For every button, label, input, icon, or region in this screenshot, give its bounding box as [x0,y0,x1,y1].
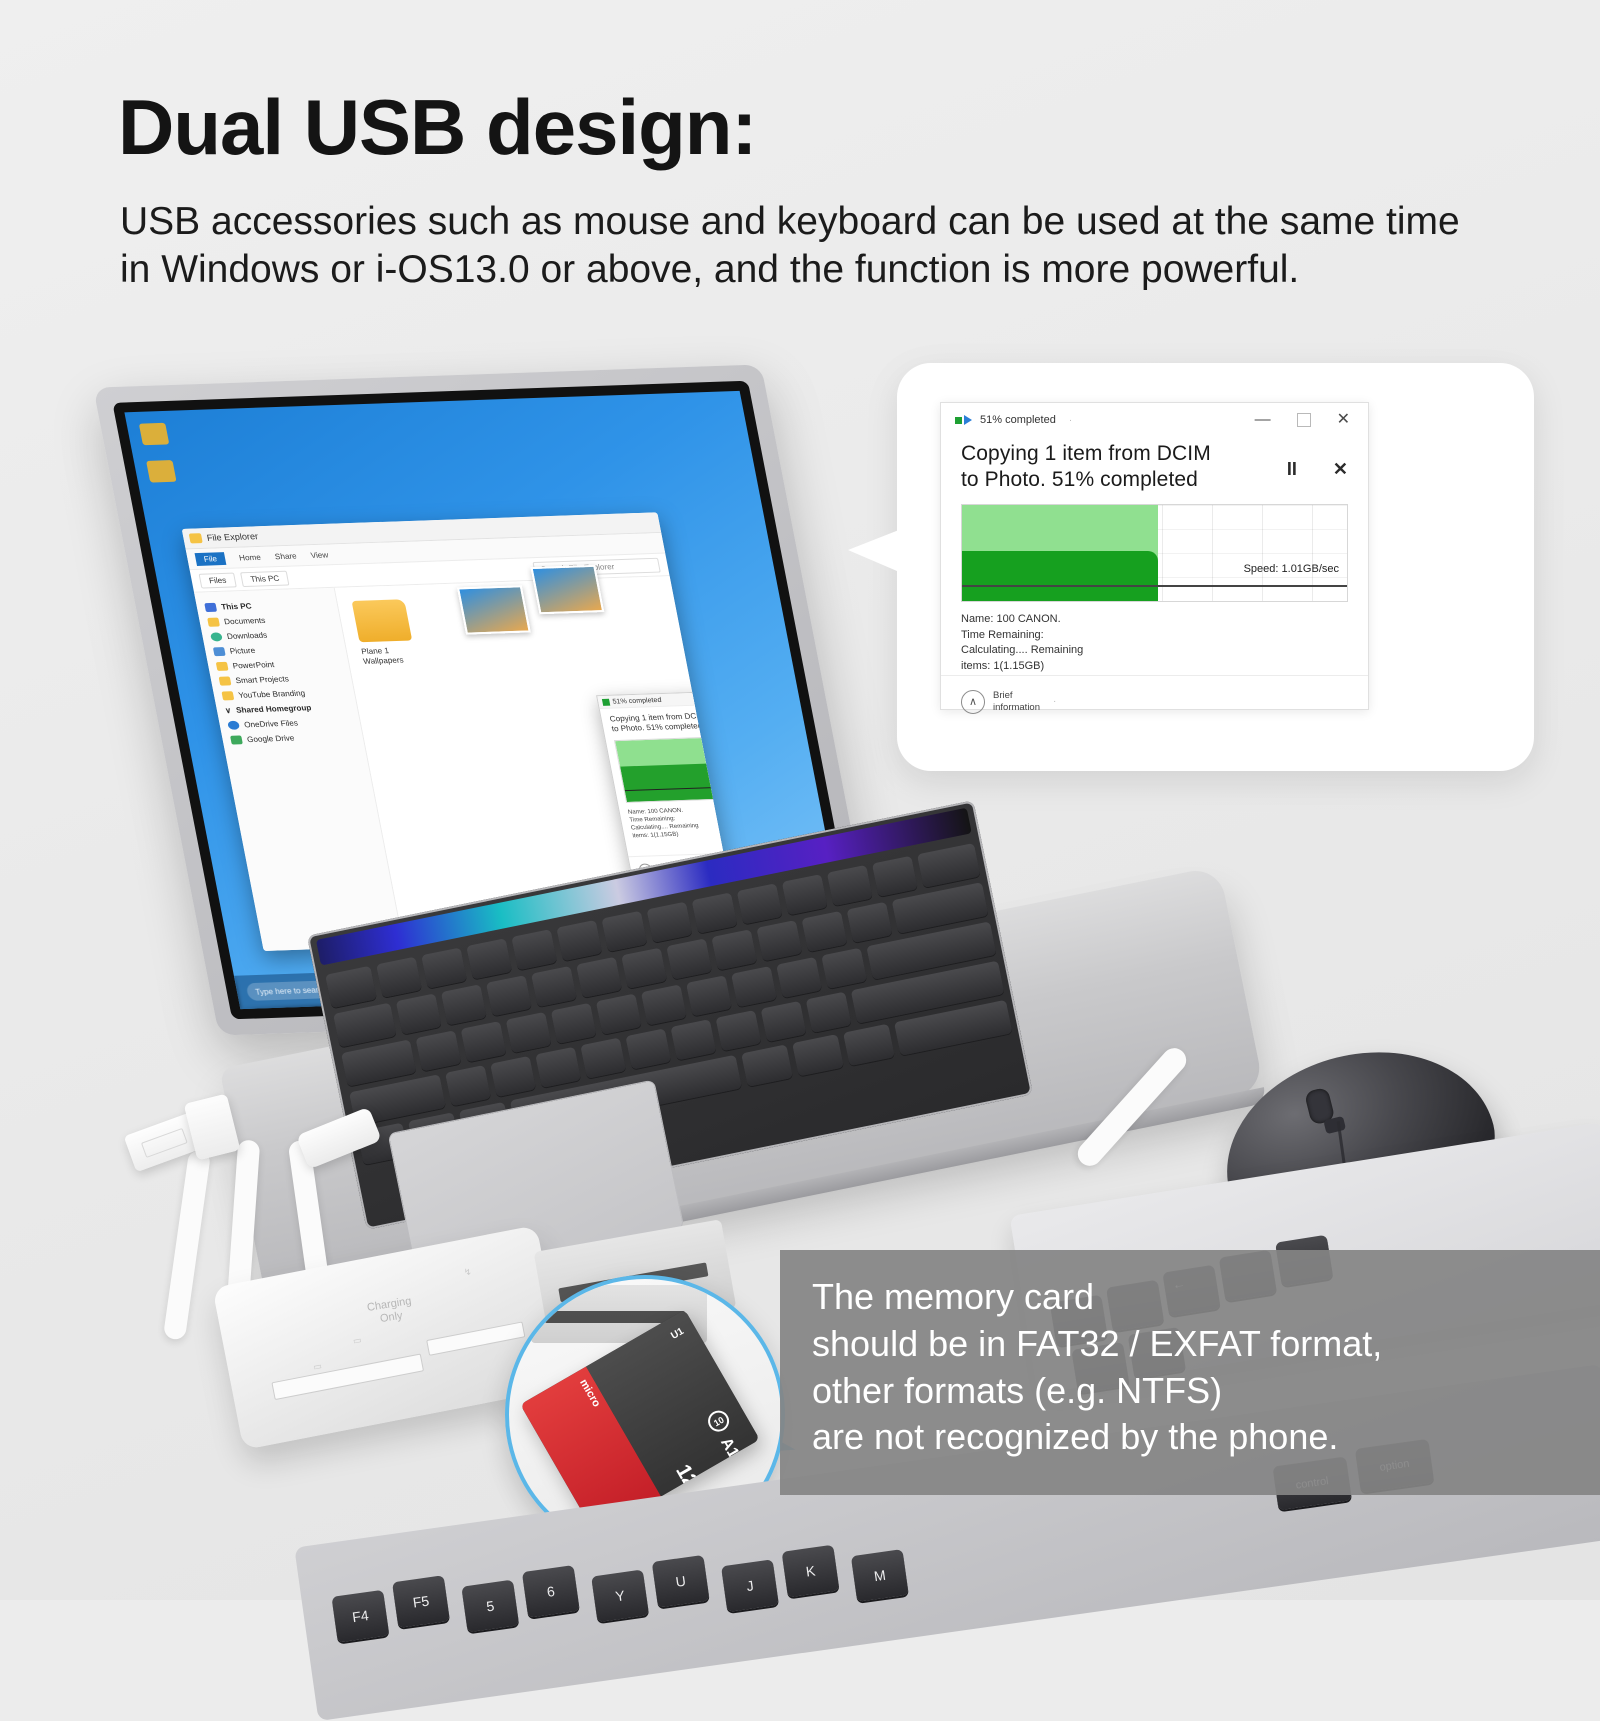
progress-dark-fill [962,551,1158,601]
folder-label: Plane 1 Wallpapers [361,645,428,667]
tab-home[interactable]: Home [238,552,261,562]
info-time-remaining: Time Remaining: [961,629,1044,641]
mini-progress-graph [614,733,739,803]
close-button[interactable]: ✕ [1337,412,1350,428]
mini-dialog-info: Name: 100 CANON. Time Remaining: Calcula… [619,799,739,843]
progress-baseline [962,585,1347,587]
lightning-icon: ↯ [463,1266,473,1278]
caption-line-1: The memory card [780,1274,1600,1321]
cancel-button[interactable]: ✕ [1333,459,1348,480]
caption-line-2: should be in FAT32 / EXFAT format, [780,1321,1600,1368]
memory-card-caption: The memory card should be in FAT32 / EXF… [780,1250,1600,1495]
key-k[interactable]: K [782,1545,840,1598]
thumbnail[interactable] [457,585,531,634]
key-f5[interactable]: F5 [392,1575,450,1628]
sidebar-label: OneDrive Files [243,719,298,730]
desktop-icon[interactable] [146,460,177,483]
folder-icon[interactable] [352,599,413,642]
copy-status-icon [955,415,972,425]
sidebar-label: Picture [229,646,256,656]
caption-line-3: other formats (e.g. NTFS) [780,1368,1600,1415]
breadcrumb-files[interactable]: Files [198,572,236,588]
key-y[interactable]: Y [591,1569,649,1622]
info-name: Name: 100 CANON. [961,613,1061,625]
callout-bubble-tail [848,528,904,574]
chevron-up-icon[interactable]: ∧ [961,690,985,714]
transfer-info: Name: 100 CANON. Time Remaining: Calcula… [961,612,1348,674]
picture-icon [213,647,226,656]
sidebar-label: Google Drive [246,734,295,744]
transfer-controls[interactable]: II ✕ [1287,459,1348,480]
info-items: items: 1(1.15GB) [961,660,1044,672]
blue-arrow-icon [964,415,972,425]
sidebar-label: Smart Projects [235,674,290,685]
title-dot: · [1069,415,1072,426]
tab-share[interactable]: Share [274,551,297,561]
sd-icon: ▭ [312,1361,322,1373]
sidebar-label: This PC [220,602,252,612]
folder-icon [219,676,232,685]
dialog-body: Copying 1 item from DCIM to Photo. 51% c… [941,437,1368,675]
green-square-icon [955,417,962,424]
key-5[interactable]: 5 [461,1580,519,1633]
minimize-button[interactable]: — [1255,412,1271,428]
dialog-footer[interactable]: ∧ Brief information · [941,675,1368,728]
desktop-icon[interactable] [139,423,170,446]
copy-progress-dialog[interactable]: 51% completed · — ✕ Copying 1 item from … [940,402,1369,710]
info-calculating: Calculating.... Remaining [961,644,1083,656]
cable-usb-a [163,1149,211,1340]
speed-label: Speed: 1.01GB/sec [1244,563,1339,575]
thumbnail[interactable] [530,565,604,614]
file-explorer-title: File Explorer [206,531,259,543]
folder-icon [207,618,220,627]
progress-dark-fill [620,762,739,802]
caption-line-4: are not recognized by the phone. [780,1414,1600,1461]
sidebar-item-google-drive[interactable]: Google Drive [225,728,359,747]
folder-icon [189,533,203,543]
tab-file[interactable]: File [194,552,226,566]
chevron-down-icon: ∨ [224,706,232,715]
mouse-middle-button [1323,1116,1346,1134]
onedrive-icon [227,721,240,730]
key-6[interactable]: 6 [522,1565,580,1618]
poster-canvas: Dual USB design: USB accessories such as… [0,0,1600,1600]
download-icon [210,632,223,641]
folder-icon [221,691,234,700]
pause-button[interactable]: II [1287,459,1297,480]
footer-dot: · [1053,696,1056,707]
sidebar-label: Documents [223,616,266,626]
tf-icon: ▭ [352,1335,362,1347]
desktop-icons [139,422,214,499]
tab-view[interactable]: View [310,550,329,559]
dialog-title: 51% completed [980,414,1056,426]
key-m[interactable]: M [851,1549,909,1602]
window-controls[interactable]: — ✕ [1255,412,1354,428]
pc-icon [204,603,217,612]
brief-information-label: Brief information [993,690,1040,714]
progress-graph: Speed: 1.01GB/sec [961,504,1348,602]
copy-status-icon [602,698,610,705]
charging-only-label: Charging Only [366,1295,414,1327]
maximize-button[interactable] [1297,413,1311,427]
key-f4[interactable]: F4 [331,1590,389,1643]
dialog-titlebar: 51% completed · — ✕ [941,403,1368,437]
sidebar-label: Shared Homegroup [235,703,312,714]
usb-port[interactable] [426,1321,525,1355]
google-drive-icon [230,735,243,744]
folder-icon [216,662,229,671]
sd-card-slot[interactable] [271,1353,424,1400]
key-j[interactable]: J [721,1559,779,1612]
sidebar-label: YouTube Branding [238,689,306,700]
breadcrumb-this-pc[interactable]: This PC [240,570,290,586]
sidebar-label: Downloads [226,631,268,641]
mini-dialog-title: 51% completed [612,697,662,706]
sidebar-label: PowerPoint [232,660,275,670]
